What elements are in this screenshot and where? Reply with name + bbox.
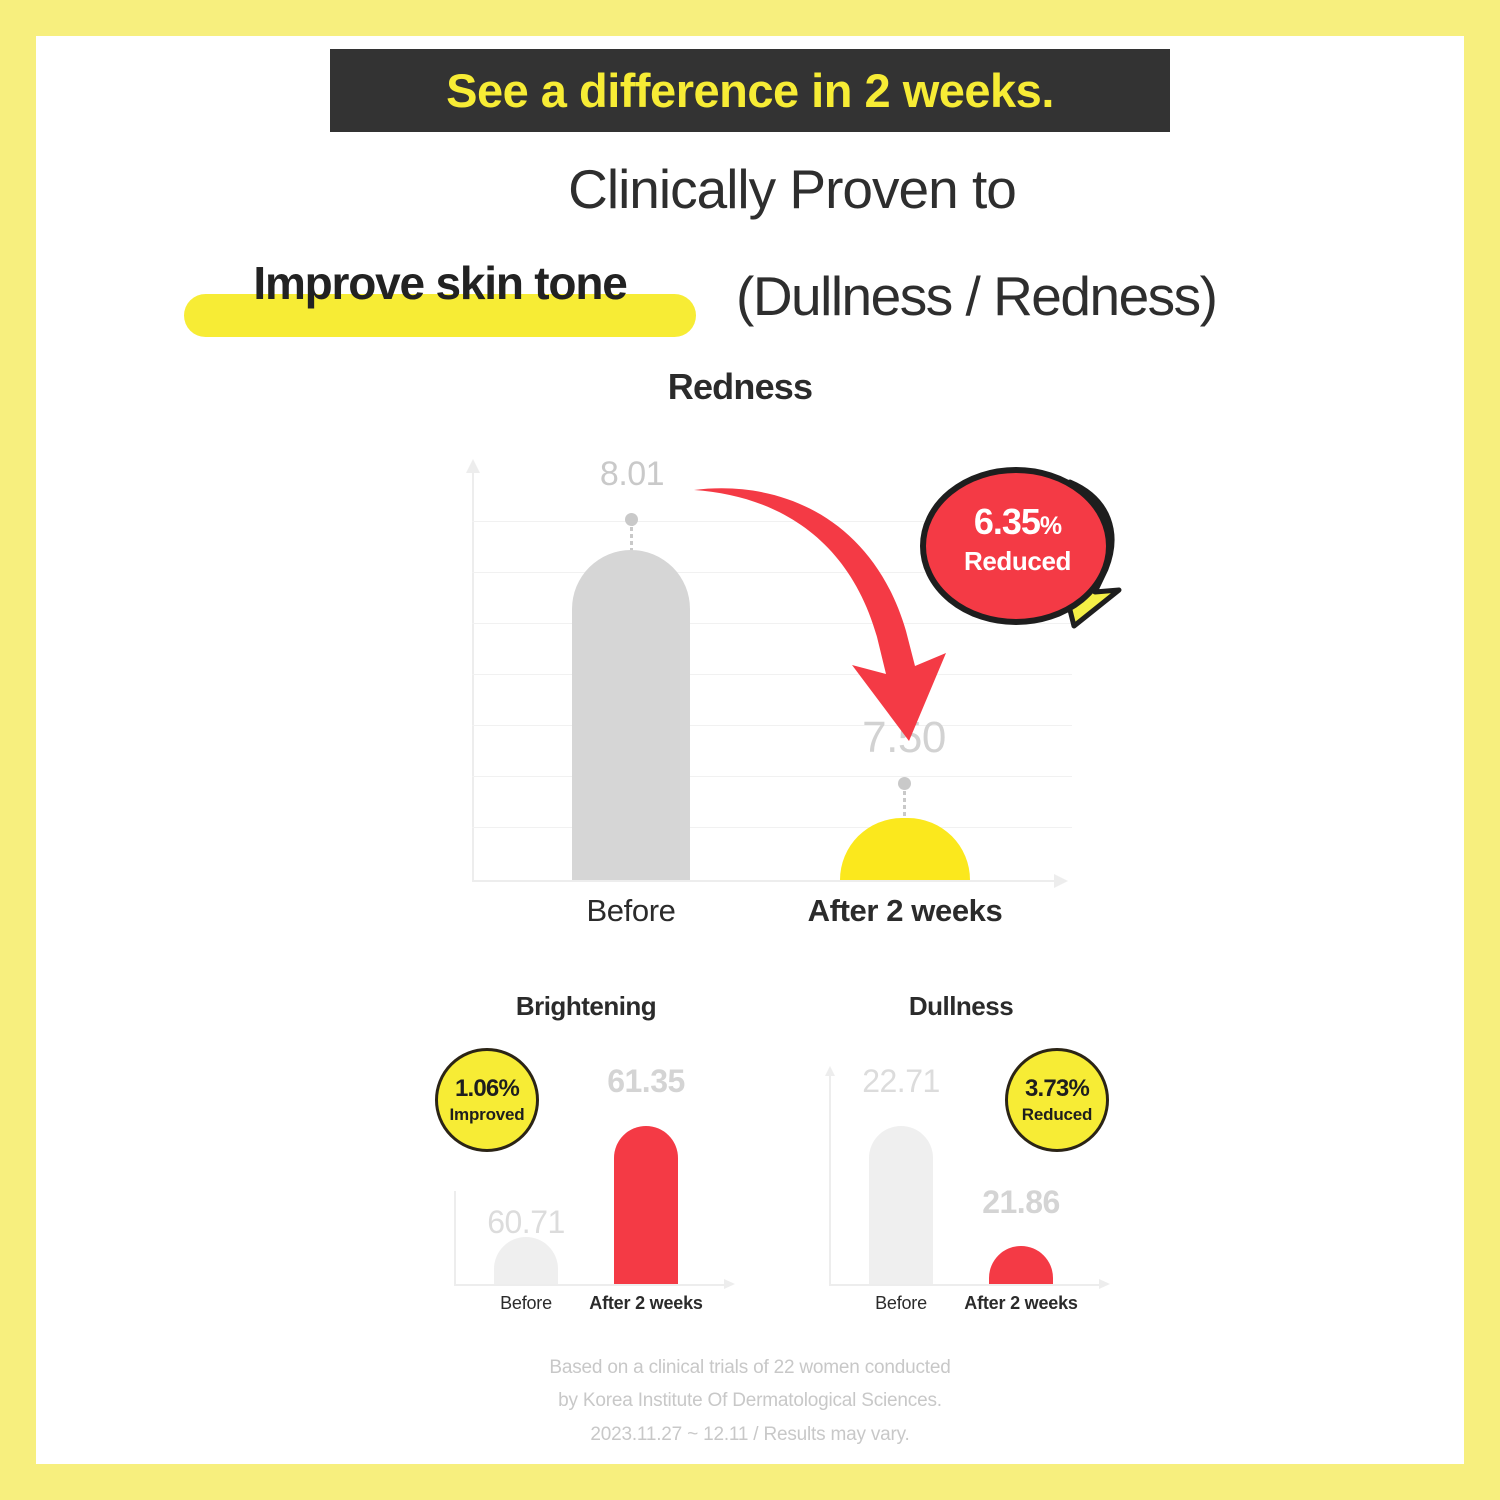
redness-reduction-badge: 6.35% Reduced xyxy=(920,464,1130,629)
highlighted-phrase: Improve skin tone xyxy=(184,258,696,348)
dullness-chart: Dullness 22.71 21.86 Before After 2 week… xyxy=(781,991,1141,1321)
dullness-badge-label: Reduced xyxy=(1022,1106,1092,1123)
brightening-after-bar xyxy=(614,1126,678,1284)
redness-badge-label: Reduced xyxy=(930,548,1105,574)
x-axis-line xyxy=(829,1284,1101,1286)
dullness-xtick-after: After 2 weeks xyxy=(961,1293,1081,1314)
dullness-chart-title: Dullness xyxy=(781,991,1141,1022)
footnote-line-1: Based on a clinical trials of 22 women c… xyxy=(36,1351,1464,1384)
redness-chart: Redness 8.01 7.50 Before After 2 xyxy=(36,366,1464,966)
headline-banner: See a difference in 2 weeks. xyxy=(330,49,1170,132)
subtitle-line-1: Clinically Proven to xyxy=(36,159,1464,220)
brightening-badge-percent: 1.06% xyxy=(455,1077,519,1101)
footnote: Based on a clinical trials of 22 women c… xyxy=(36,1351,1464,1451)
brightening-chart: Brightening 60.71 61.35 Before After 2 w… xyxy=(406,991,766,1321)
dullness-after-bar xyxy=(989,1246,1053,1284)
redness-chart-title: Redness xyxy=(36,366,1454,408)
redness-badge-text: 6.35% Reduced xyxy=(930,504,1105,574)
subtitle-line-1-text: Clinically Proven to xyxy=(568,159,1016,220)
x-axis-arrow-icon xyxy=(1099,1279,1110,1289)
dullness-after-value-label: 21.86 xyxy=(956,1184,1086,1221)
dullness-before-value-label: 22.71 xyxy=(836,1063,966,1100)
brightening-chart-title: Brightening xyxy=(406,991,766,1022)
dullness-reduction-badge: 3.73% Reduced xyxy=(1005,1048,1109,1152)
dullness-xtick-before: Before xyxy=(841,1293,961,1314)
brightening-before-bar xyxy=(494,1237,558,1284)
footnote-line-2: by Korea Institute Of Dermatological Sci… xyxy=(36,1384,1464,1417)
x-axis-arrow-icon xyxy=(724,1279,735,1289)
brightening-after-value-label: 61.35 xyxy=(581,1063,711,1100)
subtitle-line-2: Improve skin tone (Dullness / Redness) xyxy=(36,258,1464,348)
redness-badge-percent: 6.35% xyxy=(930,504,1105,540)
brightening-xtick-after: After 2 weeks xyxy=(586,1293,706,1314)
infographic-frame: See a difference in 2 weeks. Clinically … xyxy=(36,36,1464,1464)
brightening-xtick-before: Before xyxy=(466,1293,586,1314)
brightening-improvement-badge: 1.06% Improved xyxy=(435,1048,539,1152)
brightening-before-value-label: 60.71 xyxy=(461,1204,591,1241)
highlighted-phrase-text: Improve skin tone xyxy=(184,258,696,309)
x-axis-line xyxy=(454,1284,726,1286)
headline-text: See a difference in 2 weeks. xyxy=(446,67,1054,114)
brightening-badge-label: Improved xyxy=(450,1106,525,1123)
y-axis-line xyxy=(829,1075,831,1286)
y-axis-line xyxy=(454,1191,456,1286)
footnote-line-3: 2023.11.27 ~ 12.11 / Results may vary. xyxy=(36,1418,1464,1451)
dullness-before-bar xyxy=(869,1126,933,1284)
subtitle-parenthetical: (Dullness / Redness) xyxy=(736,266,1336,327)
dullness-badge-percent: 3.73% xyxy=(1025,1077,1089,1101)
